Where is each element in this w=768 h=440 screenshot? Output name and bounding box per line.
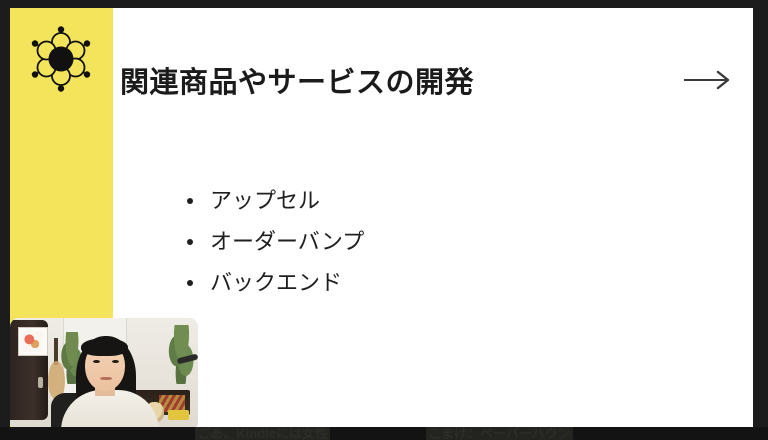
list-item: オーダーバンプ <box>175 221 605 262</box>
caption-right-text: こまけ：ペーパーハウン <box>426 427 573 440</box>
webcam-video-frame <box>10 318 198 431</box>
page-title: 関連商品やサービスの開発 <box>120 54 640 106</box>
caption-strip: ごあ、Kindleには女性 こまけ：ペーパーハウン <box>0 427 768 440</box>
yellow-badge <box>168 410 189 420</box>
bullet-dot-icon <box>187 280 193 286</box>
picture-artwork <box>22 331 43 352</box>
list-item-label: アップセル <box>210 188 320 213</box>
screen-root: 関連商品やサービスの開発 アップセル オーダーバンプ バックエンド <box>0 0 768 440</box>
list-item: アップセル <box>175 180 605 221</box>
bullet-dot-icon <box>187 239 193 245</box>
bullet-dot-icon <box>187 198 193 204</box>
list-item: バックエンド <box>175 262 605 303</box>
presenter-mouth <box>100 377 111 380</box>
caption-left-text: ごあ、Kindleには女性 <box>195 427 330 440</box>
flower-molecule-logo-icon <box>24 22 98 96</box>
list-item-label: オーダーバンプ <box>210 229 364 254</box>
arrow-right-icon[interactable] <box>680 62 736 98</box>
wall-picture <box>18 327 48 356</box>
presenter-webcam[interactable] <box>10 318 198 431</box>
bullet-list: アップセル オーダーバンプ バックエンド <box>175 180 605 303</box>
door-knob <box>38 377 43 388</box>
list-item-label: バックエンド <box>210 270 342 295</box>
presenter-fringe <box>81 338 128 356</box>
